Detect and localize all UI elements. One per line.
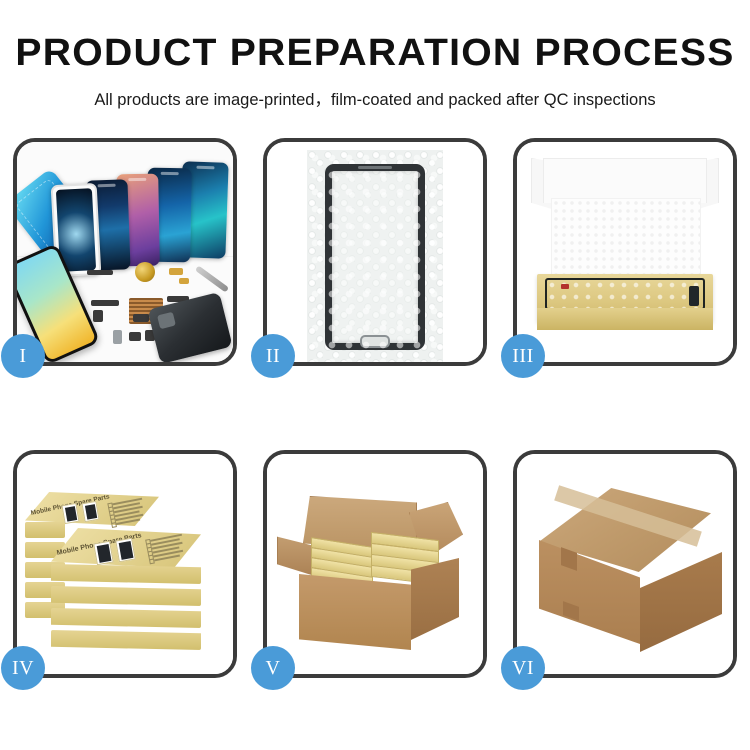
process-panel-grid: I II III <box>13 138 737 678</box>
header: PRODUCT PREPARATION PROCESS All products… <box>0 0 750 110</box>
panel-badge-3: III <box>501 334 545 378</box>
speaker-coil-icon <box>135 262 155 282</box>
panel-badge-2: II <box>251 334 295 378</box>
panel-image-sealed-carton <box>517 454 733 674</box>
panel-badge-5: V <box>251 646 295 690</box>
box-phone-thumb-front-2 <box>115 538 136 563</box>
panel-screen-in-open-kraft-box[interactable]: III <box>513 138 737 366</box>
carton-front-face <box>299 574 411 650</box>
box-lid-back <box>543 158 707 203</box>
panel-badge-6: VI <box>501 646 545 690</box>
phone-glass-screen-icon <box>325 164 425 350</box>
box-phone-thumb-front-1 <box>93 541 114 566</box>
panel-open-carton-with-boxes[interactable]: V <box>263 450 487 678</box>
panel-bubble-wrapped-screen[interactable]: II <box>263 138 487 366</box>
panel-stacked-kraft-boxes[interactable]: Mobile Phone Spare Parts Mobile Phone Sp… <box>13 450 237 678</box>
panel-badge-1: I <box>1 334 45 378</box>
spare-parts-cluster <box>83 256 229 360</box>
page-subtitle: All products are image-printed，film-coat… <box>0 86 750 110</box>
panel-phone-screens-and-spare-parts[interactable]: I <box>13 138 237 366</box>
page-title: PRODUCT PREPARATION PROCESS <box>0 34 750 74</box>
panel-image-box-stack: Mobile Phone Spare Parts Mobile Phone Sp… <box>17 454 233 674</box>
box-phone-thumb-rear-1 <box>61 503 79 524</box>
panel-sealed-shipping-carton[interactable]: VI <box>513 450 737 678</box>
panel-image-bubble-wrap <box>267 142 483 362</box>
foam-padding <box>551 198 701 282</box>
kraft-box-front <box>537 308 713 330</box>
panel-image-phone-parts <box>17 142 233 362</box>
panel-image-open-carton <box>267 454 483 674</box>
tweezers-icon <box>195 266 229 293</box>
box-phone-thumb-rear-2 <box>81 501 99 522</box>
panel-badge-4: IV <box>1 646 45 690</box>
wrapped-screen-in-box <box>545 278 705 310</box>
panel-image-open-box <box>517 142 733 362</box>
